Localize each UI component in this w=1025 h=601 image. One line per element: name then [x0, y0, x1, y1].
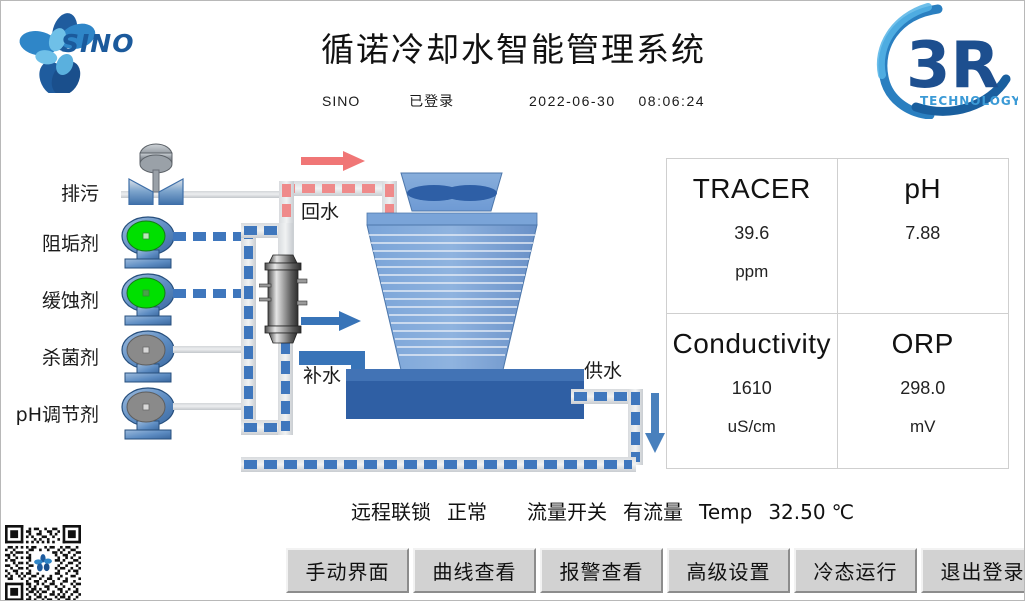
dosing-pump-ph-adjuster[interactable] — [117, 387, 179, 441]
hmi-screen: SINO 循诺冷却水智能管理系统 SINO 已登录 2022-06-30 08:… — [0, 0, 1025, 601]
dosing-pump-biocide[interactable] — [117, 330, 179, 384]
button-alarm-view[interactable]: 报警查看 — [540, 548, 663, 593]
header: SINO 循诺冷却水智能管理系统 SINO 已登录 2022-06-30 08:… — [1, 1, 1025, 123]
qr-code-icon[interactable] — [5, 525, 81, 601]
measurement-orp-unit: mV — [910, 417, 936, 437]
measurement-ph: pH 7.88 — [838, 159, 1009, 314]
measurement-conductivity-unit: uS/cm — [728, 417, 776, 437]
flow-switch-label: 流量开关 — [527, 496, 607, 525]
flow-switch-value: 有流量 — [623, 496, 683, 525]
dosing-label-biocide: 杀菌剂 — [23, 343, 99, 370]
button-trend-view[interactable]: 曲线查看 — [413, 548, 536, 593]
3r-technology-logo-icon: 3R TECHNOLOGY — [868, 3, 1018, 119]
temp-unit: ℃ — [832, 500, 854, 524]
measurement-tracer-unit: ppm — [735, 262, 768, 282]
supply-pipe-right — [631, 392, 640, 462]
svg-text:3R: 3R — [906, 29, 1000, 103]
measurement-ph-label: pH — [904, 173, 941, 205]
login-user: SINO — [322, 93, 360, 109]
tower-basin — [346, 381, 584, 419]
button-cold-start-run[interactable]: 冷态运行 — [794, 548, 917, 593]
dosing-label-blowdown: 排污 — [29, 179, 99, 206]
measurement-tracer: TRACER 39.6 ppm — [667, 159, 838, 314]
login-status: 已登录 — [409, 91, 454, 111]
dosing-label-corrosion-inhibitor: 缓蚀剂 — [23, 286, 99, 313]
makeup-water-label: 补水 — [303, 361, 341, 388]
measurement-orp-value: 298.0 — [900, 378, 945, 399]
status-bar: 远程联锁 正常 流量开关 有流量 Temp 32.50 ℃ — [351, 496, 1011, 525]
dosing-label-ph-adjuster: pH调节剂 — [15, 400, 99, 427]
button-logout[interactable]: 退出登录 — [921, 548, 1025, 593]
navigation-button-bar: 手动界面 曲线查看 报警查看 高级设置 冷态运行 退出登录 — [286, 548, 1025, 593]
measurement-ph-value: 7.88 — [905, 223, 940, 244]
supply-water-label: 供水 — [584, 356, 622, 383]
measurement-orp: ORP 298.0 mV — [838, 314, 1009, 469]
svg-text:TECHNOLOGY: TECHNOLOGY — [920, 94, 1018, 108]
remote-interlock-label: 远程联锁 — [351, 496, 431, 525]
analyzer-loop-left — [244, 226, 253, 432]
system-date: 2022-06-30 — [529, 93, 616, 109]
supply-flow-arrow-icon — [643, 393, 667, 455]
measurement-conductivity-label: Conductivity — [672, 328, 831, 360]
dosing-line-ph-adjuster — [173, 403, 243, 410]
tower-basin-rim — [346, 369, 584, 381]
loop-bottom — [244, 460, 632, 469]
temp-value: 32.50 — [768, 500, 825, 524]
measurement-conductivity-value: 1610 — [732, 378, 772, 399]
measurement-conductivity: Conductivity 1610 uS/cm — [667, 314, 838, 469]
return-water-label: 回水 — [301, 197, 339, 224]
dosing-line-corrosion-inhibitor — [173, 289, 243, 298]
temp-label: Temp — [699, 500, 752, 524]
measurement-tracer-label: TRACER — [693, 173, 811, 205]
button-advanced-settings[interactable]: 高级设置 — [667, 548, 790, 593]
dosing-label-scale-inhibitor: 阻垢剂 — [23, 229, 99, 256]
button-manual-interface[interactable]: 手动界面 — [286, 548, 409, 593]
blowdown-valve-icon[interactable] — [119, 143, 193, 205]
measurement-orp-label: ORP — [892, 328, 954, 360]
dosing-pump-corrosion-inhibitor[interactable] — [117, 273, 179, 327]
dosing-line-scale-inhibitor — [173, 232, 243, 241]
system-time: 08:06:24 — [639, 93, 706, 109]
dosing-line-biocide — [173, 346, 243, 353]
dosing-pump-scale-inhibitor[interactable] — [117, 216, 179, 270]
measurement-panel: TRACER 39.6 ppm pH 7.88 Conductivity 161… — [666, 158, 1009, 469]
measurement-tracer-value: 39.6 — [734, 223, 769, 244]
remote-interlock-value: 正常 — [447, 496, 487, 525]
